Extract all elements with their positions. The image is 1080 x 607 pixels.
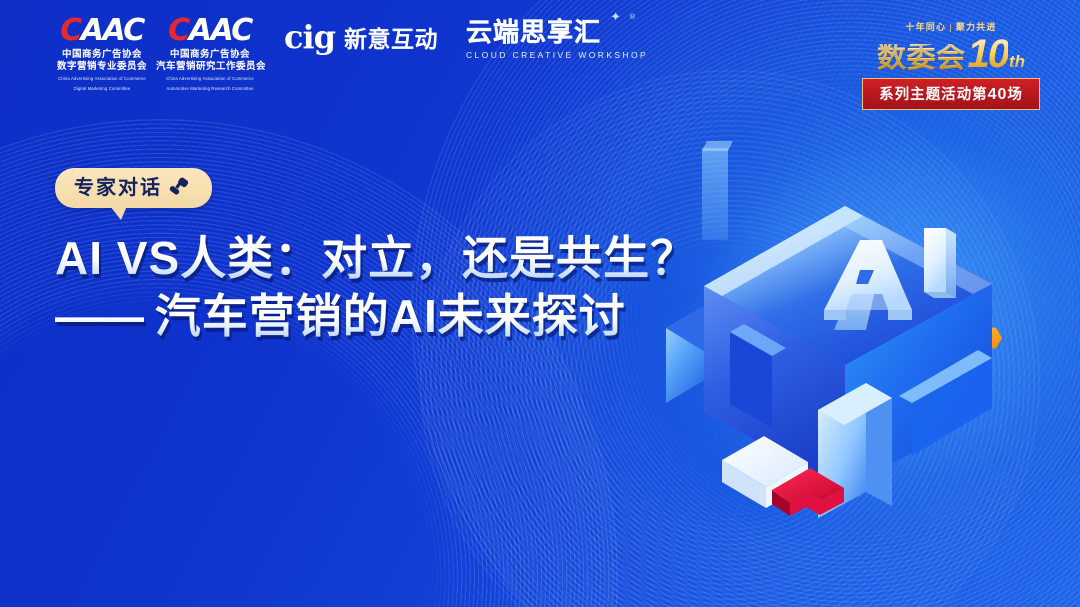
badge-tagline-left: 十年同心 — [905, 22, 946, 32]
caac-letters-aac: AAC — [189, 13, 252, 48]
decor-vertical-bar-left — [702, 148, 728, 240]
ribbon-suffix: 场 — [1007, 87, 1023, 103]
logo-cloud-creative-workshop: 云端思享汇 ✦ ® CLOUD CREATIVE WORKSHOP — [466, 18, 648, 61]
caac-letter-c: C — [168, 13, 189, 48]
badge-ordinal-suffix: th — [1009, 53, 1025, 70]
badge-tagline-separator: | — [949, 22, 953, 32]
ribbon-episode-number: 40 — [988, 86, 1008, 103]
page-subtitle-text: 汽车营销的AI未来探讨 — [155, 290, 626, 342]
logo-cig: cig 新意互动 — [284, 20, 438, 54]
cloud-workshop-cn: 云端思享汇 — [466, 18, 601, 47]
sparkle-icon: ✦ — [610, 9, 621, 25]
cig-cn-name: 新意互动 — [344, 20, 438, 54]
badge-episode-ribbon: 系列主题活动第40场 — [862, 78, 1040, 110]
caac-letters-aac: AAC — [81, 13, 144, 48]
ribbon-prefix: 系列主题活动第 — [879, 87, 988, 103]
orange-hexagon-icon — [978, 327, 1002, 349]
badge-anniversary-number: 10 — [967, 34, 1008, 74]
caac-letter-c: C — [60, 13, 81, 48]
expert-dialogue-pill: 专家对话 — [55, 168, 212, 208]
title-dash: —— — [55, 290, 141, 342]
expert-dialogue-tag: 专家对话 — [55, 168, 212, 208]
caac-cn-line-1: 中国商务广告协会 — [156, 49, 264, 61]
caac-en-line-1: China Advertising Association of Commerc… — [158, 76, 262, 82]
logo-group: CAAC 中国商务广告协会 数字营销专业委员会 China Advertisin… — [48, 16, 648, 93]
background-glow — [700, 150, 1080, 550]
logo-caac-automotive-research: CAAC 中国商务广告协会 汽车营销研究工作委员会 China Advertis… — [156, 16, 264, 93]
caac-cn-line-2: 数字营销专业委员会 — [48, 61, 156, 73]
tag-speech-tail — [110, 206, 127, 220]
microphone-icon — [169, 175, 195, 200]
page-title-line-2: —— 汽车营销的AI未来探讨 — [55, 290, 697, 342]
badge-main-row: 数委会 10 th — [862, 34, 1040, 74]
registered-mark-icon: ® — [630, 14, 635, 21]
page-title-line-1: AI VS人类：对立，还是共生？ — [55, 232, 697, 284]
caac-wordmark: CAAC — [48, 16, 156, 46]
badge-tagline-right: 聚力共进 — [956, 22, 997, 32]
caac-wordmark: CAAC — [156, 16, 264, 46]
caac-cn-line-1: 中国商务广告协会 — [48, 49, 156, 61]
caac-cn-line-2: 汽车营销研究工作委员会 — [156, 61, 264, 73]
ai-cube — [660, 160, 1030, 525]
poster-canvas: CAAC 中国商务广告协会 数字营销专业委员会 China Advertisin… — [0, 0, 1080, 607]
cig-wordmark: cig — [284, 21, 335, 53]
anniversary-badge: 十年同心|聚力共进 数委会 10 th 系列主题活动第40场 — [862, 20, 1040, 110]
badge-main-cn: 数委会 — [877, 44, 966, 73]
expert-dialogue-label: 专家对话 — [74, 178, 162, 198]
headline-block: 专家对话 AI VS人类：对立，还是共生？ —— 汽车营销的AI未来探讨 — [55, 168, 697, 343]
caac-en-line-2: Digital Marketing Committee — [50, 86, 154, 92]
logo-caac-digital-marketing: CAAC 中国商务广告协会 数字营销专业委员会 China Advertisin… — [48, 16, 156, 93]
caac-en-line-2: Automotive Marketing Research Committee — [158, 86, 262, 92]
badge-tagline: 十年同心|聚力共进 — [862, 20, 1040, 33]
caac-en-line-1: China Advertising Association of Commerc… — [50, 76, 154, 82]
cloud-workshop-en: CLOUD CREATIVE WORKSHOP — [466, 50, 648, 60]
